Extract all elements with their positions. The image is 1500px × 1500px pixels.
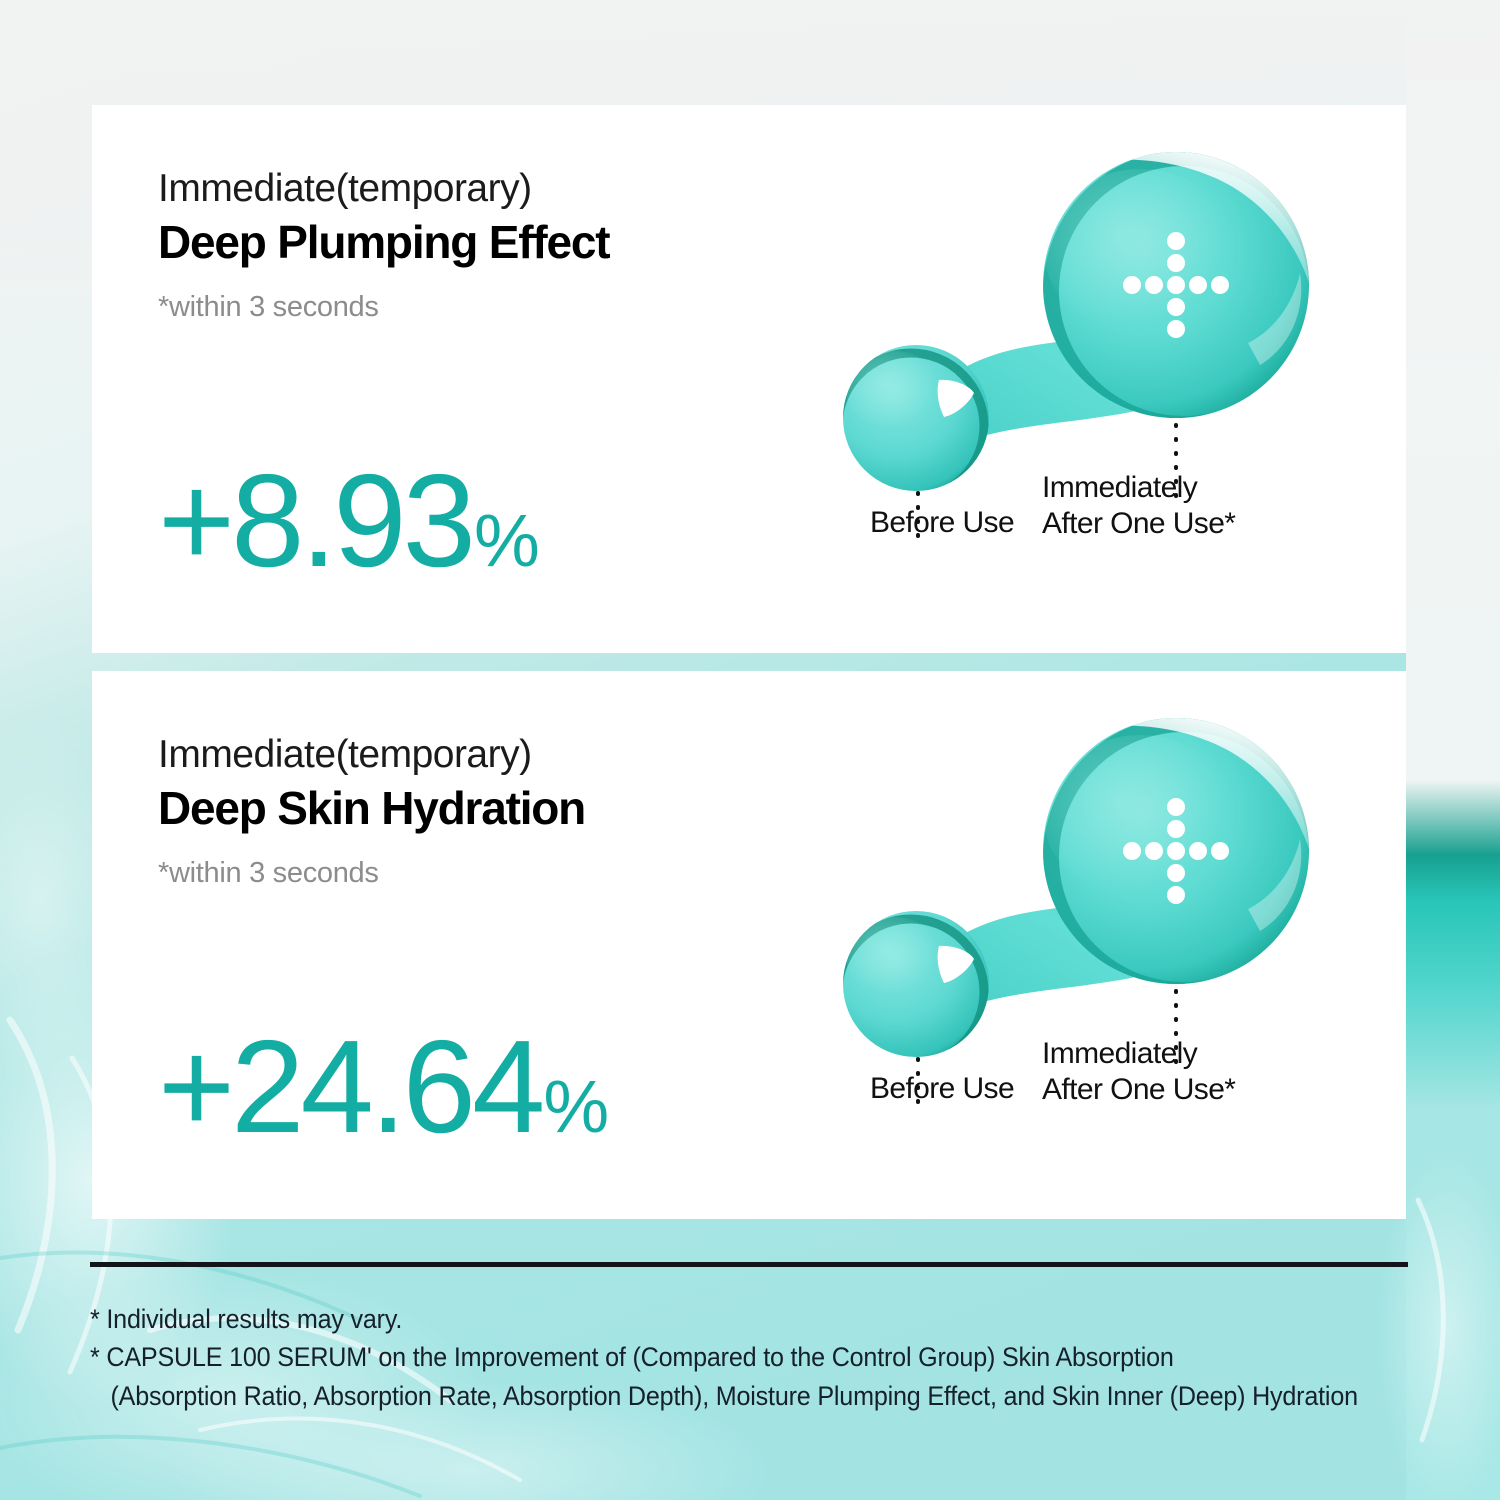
stat-unit: %	[543, 1070, 607, 1144]
footnote-line-1: * Individual results may vary.	[90, 1300, 1336, 1338]
card-text-block: Immediate(temporary) Deep Skin Hydration…	[158, 733, 585, 890]
after-use-label-line1: Immediately	[1042, 1036, 1235, 1072]
infographic-page: Immediate(temporary) Deep Plumping Effec…	[0, 0, 1500, 1500]
card-headline: Deep Plumping Effect	[158, 215, 609, 269]
footnote-divider	[90, 1262, 1408, 1267]
card-subnote: *within 3 seconds	[158, 291, 609, 324]
stat-figure: +24.64 %	[158, 1021, 607, 1153]
stat-card-hydration: Immediate(temporary) Deep Skin Hydration…	[92, 671, 1406, 1219]
footnote-line-3: (Absorption Ratio, Absorption Rate, Abso…	[90, 1377, 1336, 1415]
card-subnote: *within 3 seconds	[158, 857, 585, 890]
stat-figure: +8.93 %	[158, 455, 538, 587]
droplet-comparison-graphic: Before Use Immediately After One Use*	[828, 133, 1348, 603]
after-use-label-line1: Immediately	[1042, 470, 1235, 506]
before-use-label: Before Use	[822, 1071, 1062, 1107]
footnote-block: * Individual results may vary. * CAPSULE…	[90, 1300, 1336, 1415]
after-use-label: Immediately After One Use*	[1042, 470, 1235, 542]
after-use-label-line2: After One Use*	[1042, 506, 1235, 542]
card-headline: Deep Skin Hydration	[158, 781, 585, 835]
card-eyebrow: Immediate(temporary)	[158, 733, 585, 777]
stat-card-plumping: Immediate(temporary) Deep Plumping Effec…	[92, 105, 1406, 653]
footnote-line-2: * CAPSULE 100 SERUM' on the Improvement …	[90, 1338, 1336, 1376]
stat-value: +8.93	[158, 455, 472, 587]
after-use-label-line2: After One Use*	[1042, 1072, 1235, 1108]
card-text-block: Immediate(temporary) Deep Plumping Effec…	[158, 167, 609, 324]
droplet-comparison-graphic: Before Use Immediately After One Use*	[828, 699, 1348, 1169]
after-use-label: Immediately After One Use*	[1042, 1036, 1235, 1108]
card-eyebrow: Immediate(temporary)	[158, 167, 609, 211]
before-use-label: Before Use	[822, 505, 1062, 541]
stat-value: +24.64	[158, 1021, 541, 1153]
stat-unit: %	[474, 504, 538, 578]
